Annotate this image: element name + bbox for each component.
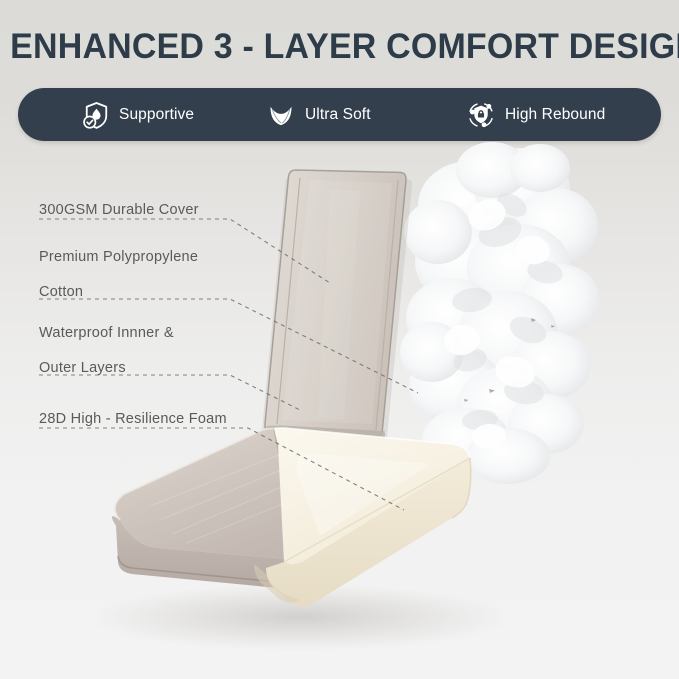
callout-line: Premium Polypropylene [39,240,198,275]
callout-line: 300GSM Durable Cover [39,193,199,228]
leader-line-4 [39,428,404,510]
callout-line: 28D High - Resilience Foam [39,402,227,437]
callout-line: Waterproof Innner & [39,316,174,351]
callout-waterproof-layers: Waterproof Innner & Outer Layers [39,316,174,386]
callout-line: Outer Layers [39,351,174,386]
infographic-canvas: ENHANCED 3 - LAYER COMFORT DESIGN Suppor… [0,0,679,679]
callout-line: Cotton [39,275,198,310]
callout-polypropylene-cotton: Premium Polypropylene Cotton [39,240,198,310]
callout-durable-cover: 300GSM Durable Cover [39,193,199,228]
callout-resilience-foam: 28D High - Resilience Foam [39,402,227,437]
